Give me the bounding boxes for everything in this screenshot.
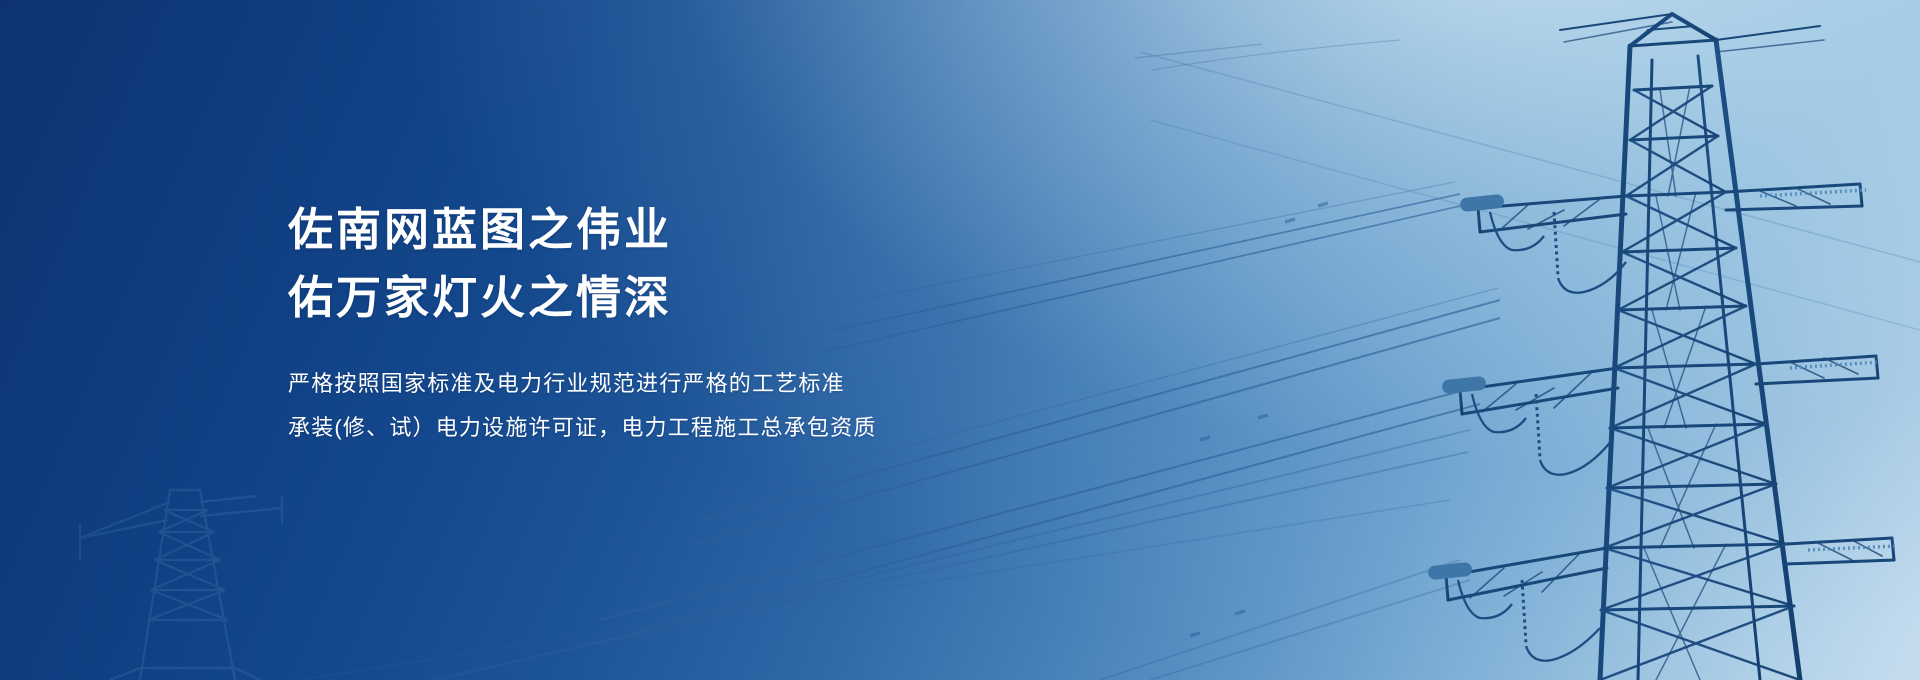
subtitle-group: 严格按照国家标准及电力行业规范进行严格的工艺标准 承装(修、试）电力设施许可证，… bbox=[288, 362, 1068, 450]
ghost-pylon-silhouette-icon bbox=[20, 420, 350, 680]
subtitle-line-1: 严格按照国家标准及电力行业规范进行严格的工艺标准 bbox=[288, 362, 1068, 406]
headline-line-2: 佑万家灯火之情深 bbox=[288, 264, 1068, 332]
subtitle-line-2: 承装(修、试）电力设施许可证，电力工程施工总承包资质 bbox=[288, 406, 1068, 450]
hero-banner: 佐南网蓝图之伟业 佑万家灯火之情深 严格按照国家标准及电力行业规范进行严格的工艺… bbox=[0, 0, 1920, 680]
transmission-tower-icon bbox=[1160, 0, 1920, 680]
hero-copy: 佐南网蓝图之伟业 佑万家灯火之情深 严格按照国家标准及电力行业规范进行严格的工艺… bbox=[288, 196, 1068, 450]
headline-line-1: 佐南网蓝图之伟业 bbox=[288, 196, 1068, 264]
